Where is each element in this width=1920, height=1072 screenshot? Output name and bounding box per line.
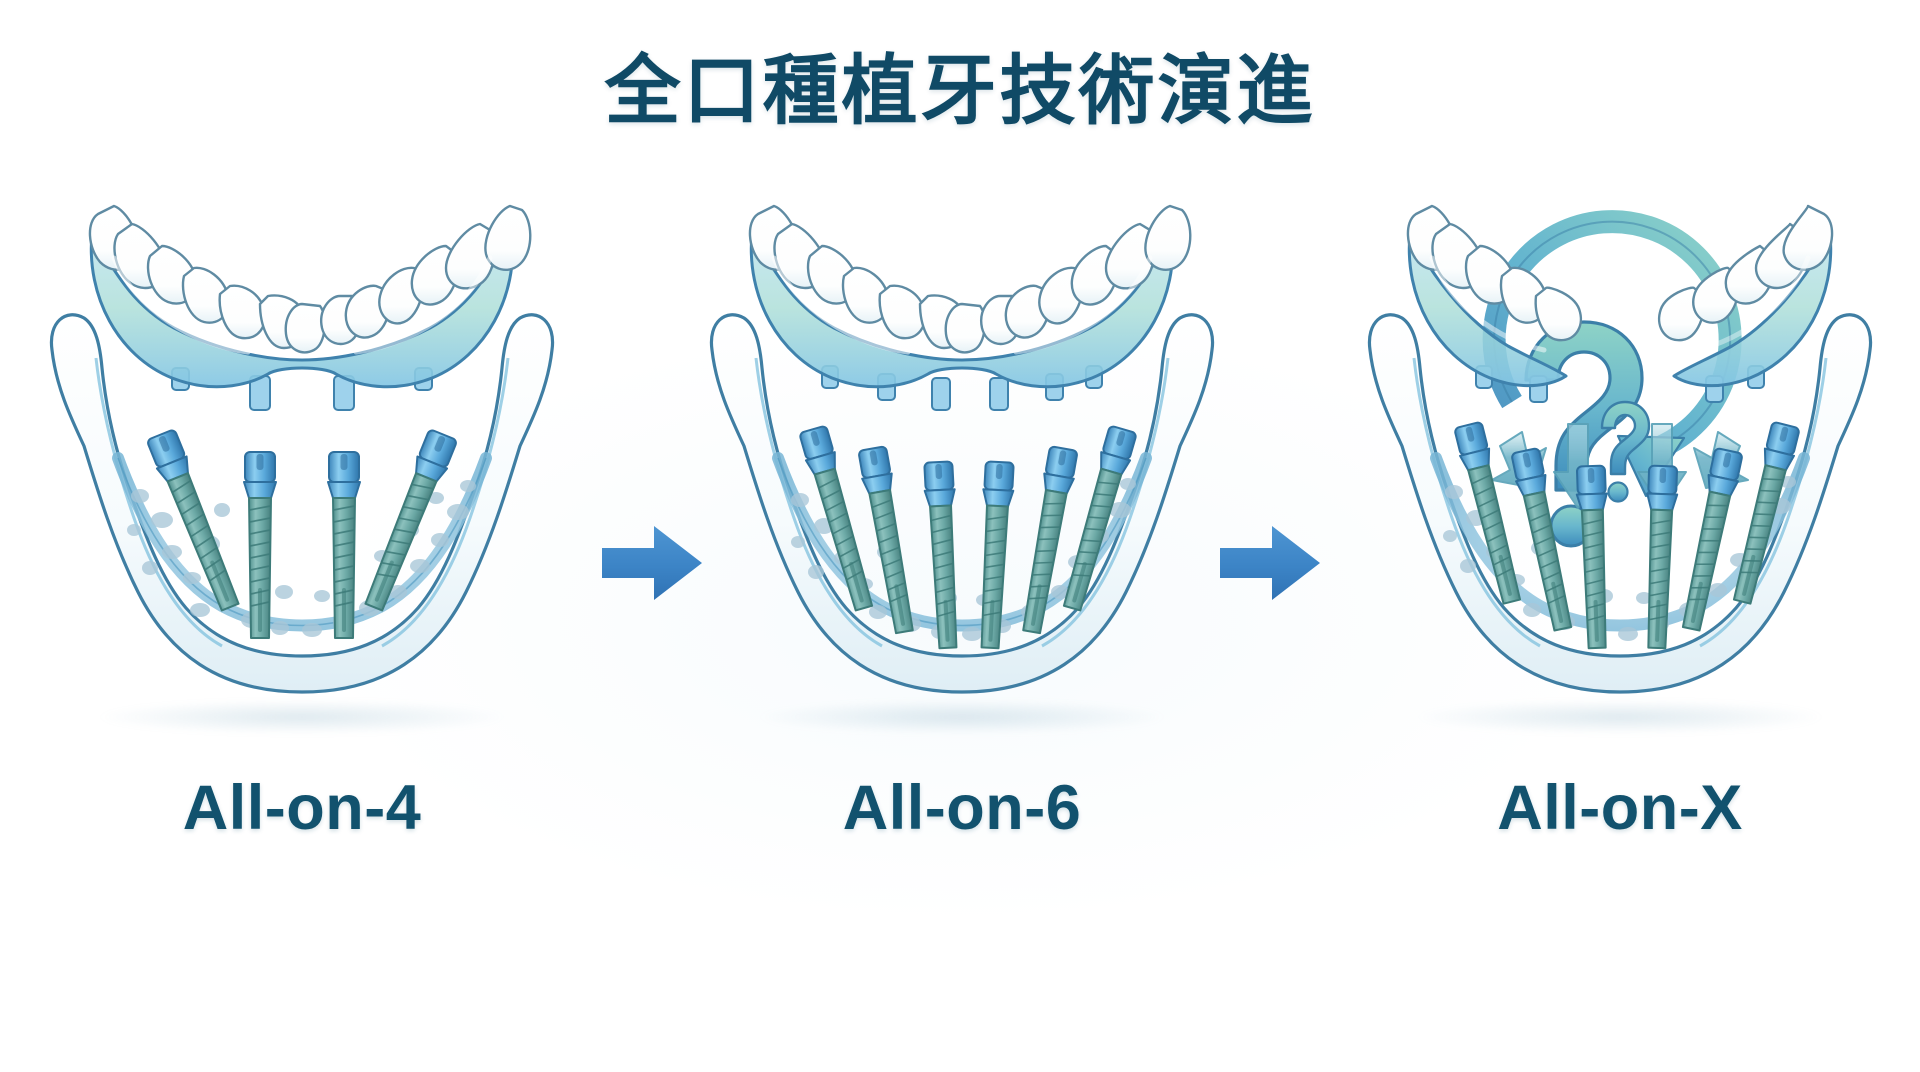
page-title: 全口種植牙技術演進 [0,48,1920,133]
mandible-bone [51,315,552,692]
stage-label-all-on-x: All-on-X [1340,772,1900,844]
flow-arrow-right-icon [1218,520,1322,606]
jaw-illustration-all-on-4 [22,200,582,760]
mandible-bone [711,315,1212,692]
implant [328,452,360,638]
panel-all-on-4: All-on-4 [22,200,582,860]
jaw-illustration-all-on-x [1340,200,1900,760]
infographic-canvas: 全口種植牙技術演進 [0,0,1920,1072]
stage-label-all-on-6: All-on-6 [682,772,1242,844]
panel-all-on-x: All-on-X [1340,200,1900,860]
stage-label-all-on-4: All-on-4 [22,772,582,844]
jaw-illustration-all-on-6 [682,200,1242,760]
implant [244,452,276,638]
full-arch-prosthesis [750,206,1190,410]
panel-all-on-6: All-on-6 [682,200,1242,860]
full-arch-prosthesis [90,206,530,410]
